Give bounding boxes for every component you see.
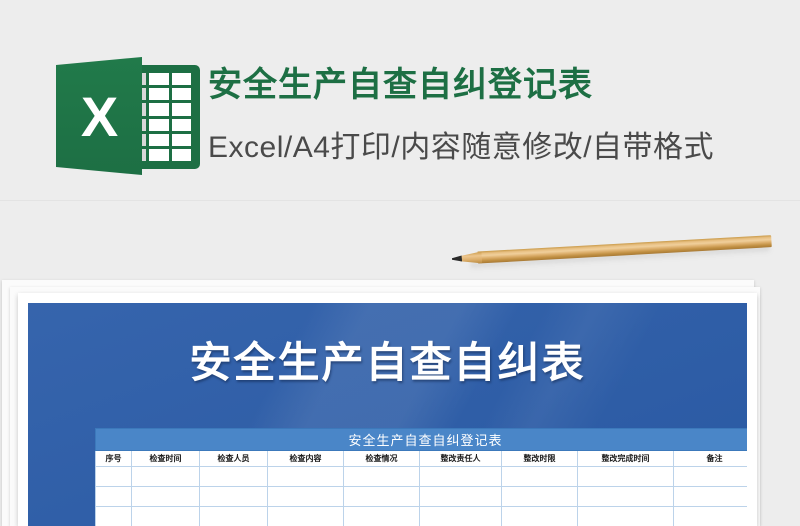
pencil-graphite-tip bbox=[452, 255, 462, 262]
cell[interactable] bbox=[132, 467, 200, 487]
cell[interactable] bbox=[200, 467, 268, 487]
cell[interactable] bbox=[502, 467, 578, 487]
cell[interactable] bbox=[674, 507, 748, 526]
cell[interactable] bbox=[674, 467, 748, 487]
cell[interactable] bbox=[502, 507, 578, 526]
spreadsheet-title-row: 安全生产自查自纠登记表 bbox=[96, 429, 748, 451]
excel-file-icon: X bbox=[56, 57, 200, 175]
column-header-inspector[interactable]: 检查人员 bbox=[200, 451, 268, 467]
column-header-check-time[interactable]: 检查时间 bbox=[132, 451, 200, 467]
spreadsheet-title-cell: 安全生产自查自纠登记表 bbox=[96, 429, 748, 451]
document-preview-card[interactable]: 安全生产自查自纠表 bbox=[18, 293, 757, 526]
cell[interactable] bbox=[96, 507, 132, 526]
cell[interactable] bbox=[578, 467, 674, 487]
cell[interactable] bbox=[420, 507, 502, 526]
cell[interactable] bbox=[96, 487, 132, 507]
column-header-check-status[interactable]: 检查情况 bbox=[344, 451, 420, 467]
cell[interactable] bbox=[344, 487, 420, 507]
spreadsheet-body: 安全生产自查自纠登记表 序号 检查时间 检查人员 检查内容 检查情况 整改责任人… bbox=[96, 429, 748, 526]
cell[interactable] bbox=[344, 467, 420, 487]
column-header-check-content[interactable]: 检查内容 bbox=[268, 451, 344, 467]
spreadsheet-header-row: 序号 检查时间 检查人员 检查内容 检查情况 整改责任人 整改时限 整改完成时间… bbox=[96, 451, 748, 467]
column-header-serial[interactable]: 序号 bbox=[96, 451, 132, 467]
cell[interactable] bbox=[502, 487, 578, 507]
column-header-remark[interactable]: 备注 bbox=[674, 451, 748, 467]
table-row[interactable] bbox=[96, 487, 748, 507]
spreadsheet-table[interactable]: 安全生产自查自纠登记表 序号 检查时间 检查人员 检查内容 检查情况 整改责任人… bbox=[95, 428, 747, 526]
page-title: 安全生产自查自纠登记表 bbox=[208, 64, 593, 106]
table-row[interactable] bbox=[96, 507, 748, 526]
cell[interactable] bbox=[132, 507, 200, 526]
cell[interactable] bbox=[268, 487, 344, 507]
cell[interactable] bbox=[420, 487, 502, 507]
cell[interactable] bbox=[344, 507, 420, 526]
column-header-responsible[interactable]: 整改责任人 bbox=[420, 451, 502, 467]
header-divider bbox=[0, 200, 800, 201]
page-subtitle: Excel/A4打印/内容随意修改/自带格式 bbox=[208, 129, 714, 167]
cell[interactable] bbox=[420, 467, 502, 487]
cell[interactable] bbox=[200, 487, 268, 507]
cell[interactable] bbox=[200, 507, 268, 526]
cell[interactable] bbox=[674, 487, 748, 507]
table-row[interactable] bbox=[96, 467, 748, 487]
cell[interactable] bbox=[578, 487, 674, 507]
column-header-completed-at[interactable]: 整改完成时间 bbox=[578, 451, 674, 467]
cell[interactable] bbox=[578, 507, 674, 526]
screenshot-root: X 安全生产自查自纠登记表 Excel/A4打印/内容随意修改/自带格式 安全生… bbox=[0, 0, 800, 526]
excel-icon-letter: X bbox=[56, 57, 142, 175]
cell[interactable] bbox=[96, 467, 132, 487]
pencil-illustration bbox=[452, 234, 772, 268]
spreadsheet-area[interactable]: 安全生产自查自纠登记表 序号 检查时间 检查人员 检查内容 检查情况 整改责任人… bbox=[95, 428, 747, 526]
column-header-deadline[interactable]: 整改时限 bbox=[502, 451, 578, 467]
banner-title: 安全生产自查自纠表 bbox=[28, 337, 747, 389]
cell[interactable] bbox=[268, 467, 344, 487]
header-band: X 安全生产自查自纠登记表 Excel/A4打印/内容随意修改/自带格式 bbox=[0, 0, 800, 200]
document-blue-page: 安全生产自查自纠表 bbox=[28, 303, 747, 526]
cell[interactable] bbox=[268, 507, 344, 526]
cell[interactable] bbox=[132, 487, 200, 507]
